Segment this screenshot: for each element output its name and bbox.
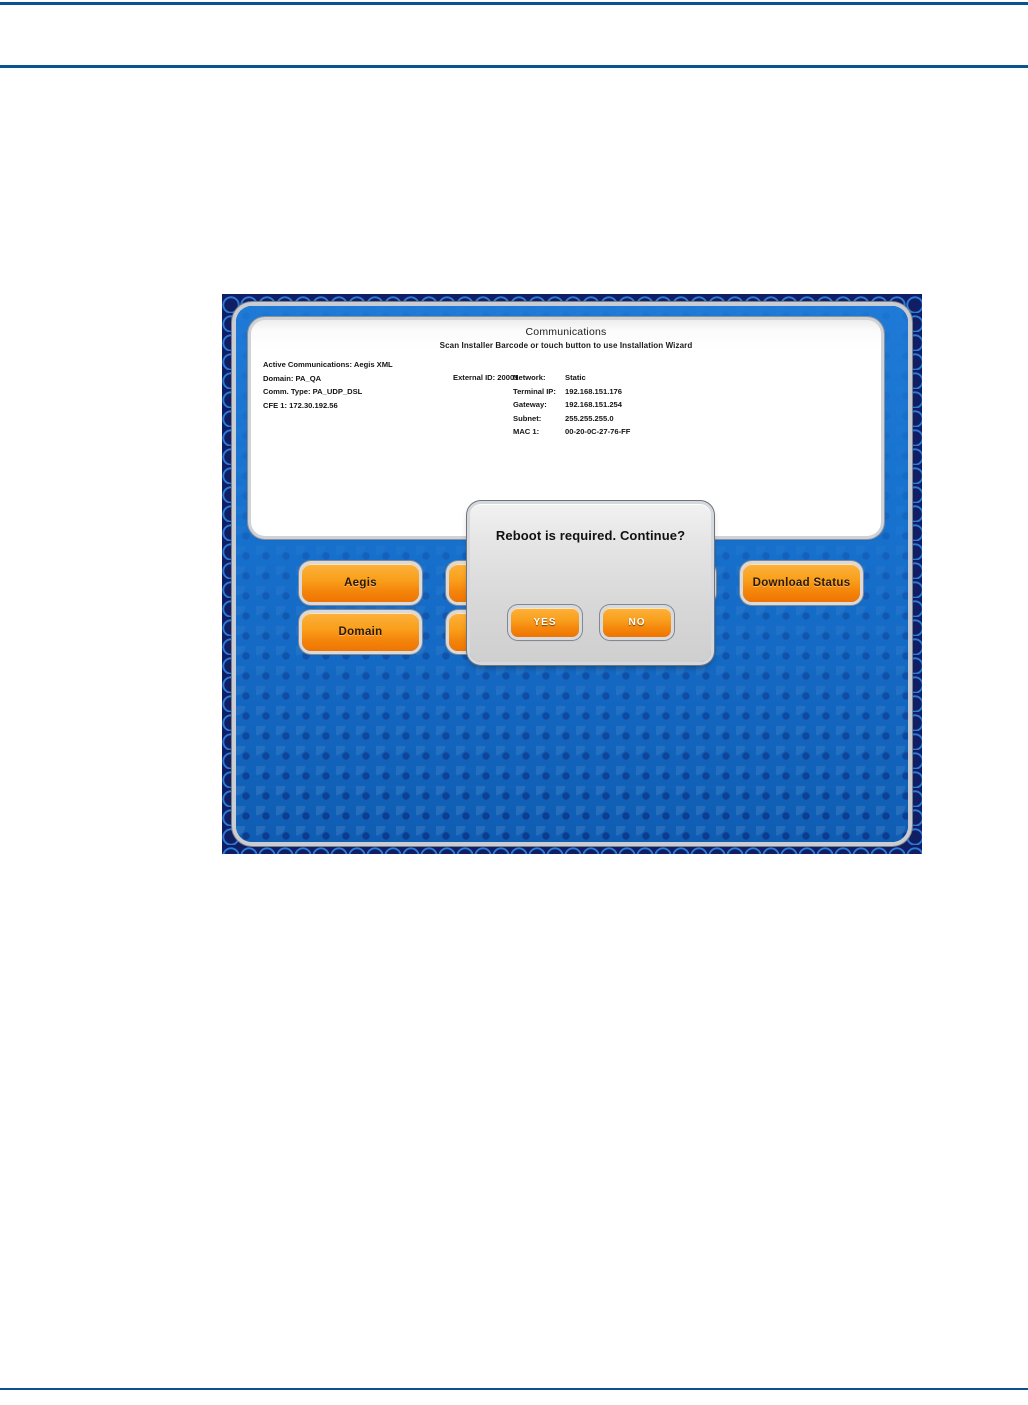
dialog-yes-label: YES [533,617,556,628]
terminal-screen: Communications Scan Installer Barcode or… [236,306,908,842]
gateway-row: Gateway: 192.168.151.254 [513,398,763,412]
button-domain-label: Domain [339,626,383,638]
mac-value: 00-20-0C-27-76-FF [565,425,630,439]
dialog-no-label: NO [629,617,646,628]
info-column-right: Network: Static Terminal IP: 192.168.151… [513,371,763,439]
dialog-yes-button[interactable]: YES [511,608,579,637]
terminal-ip-label: Terminal IP: [513,385,565,399]
terminal-ip-row: Terminal IP: 192.168.151.176 [513,385,763,399]
header-rule-bottom [0,65,1028,68]
panel-title: Communications [251,326,881,338]
network-label: Network: [513,371,565,385]
subnet-row: Subnet: 255.255.255.0 [513,412,763,426]
mac-label: MAC 1: [513,425,565,439]
dialog-no-button[interactable]: NO [603,608,671,637]
panel-subtitle: Scan Installer Barcode or touch button t… [251,341,881,350]
dialog-message: Reboot is required. Continue? [470,528,711,543]
network-row: Network: Static [513,371,763,385]
button-domain[interactable]: Domain [302,613,419,651]
button-download-status[interactable]: Download Status [743,564,860,602]
footer-rule [0,1388,1028,1390]
terminal-ip-value: 192.168.151.176 [565,385,622,399]
button-aegis-label: Aegis [344,577,377,589]
network-value: Static [565,371,586,385]
pos-terminal-screenshot: Communications Scan Installer Barcode or… [222,294,922,854]
subnet-value: 255.255.255.0 [565,412,614,426]
header-rule-top [0,2,1028,5]
reboot-confirm-dialog: Reboot is required. Continue? YES NO [470,504,711,662]
gateway-label: Gateway: [513,398,565,412]
gateway-value: 192.168.151.254 [565,398,622,412]
subnet-label: Subnet: [513,412,565,426]
button-download-status-label: Download Status [753,577,851,589]
mac-row: MAC 1: 00-20-0C-27-76-FF [513,425,763,439]
button-aegis[interactable]: Aegis [302,564,419,602]
active-communications-line: Active Communications: Aegis XML [263,358,563,372]
